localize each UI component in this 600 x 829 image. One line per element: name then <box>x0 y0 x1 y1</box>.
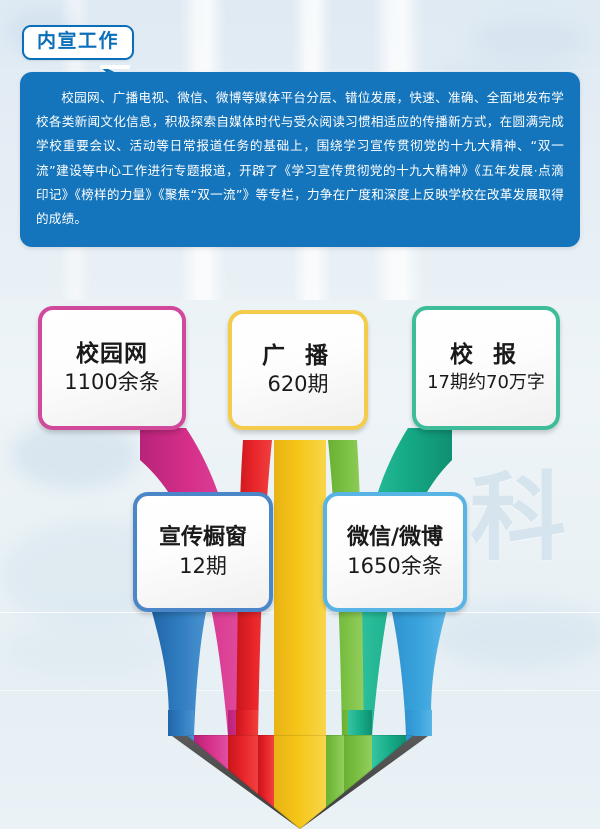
stat-card-value: 620期 <box>267 372 328 397</box>
stat-card-value: 17期约70万字 <box>427 372 545 394</box>
background-foliage <box>470 18 590 62</box>
stat-card-title: 广 播 <box>262 343 334 369</box>
stat-card-title: 宣传橱窗 <box>159 525 247 550</box>
stat-card-school-paper[interactable]: 校 报 17期约70万字 <box>412 306 560 430</box>
arrow-shaft <box>168 710 432 736</box>
badge-box: 内宣工作 <box>22 25 134 60</box>
stat-card-title: 校园网 <box>76 341 148 367</box>
stat-card-wechat-weibo[interactable]: 微信/微博 1650余条 <box>323 492 467 612</box>
infographic-canvas: 科 内宣工作 校园网、广播电视、微信、微博等媒体平台分层、错位发展，快速、准确、… <box>0 0 600 829</box>
stat-card-display-window[interactable]: 宣传橱窗 12期 <box>133 492 273 612</box>
section-title-badge: 内宣工作 <box>22 25 134 60</box>
stat-card-value: 12期 <box>179 554 227 579</box>
stat-card-title: 微信/微博 <box>347 525 443 550</box>
badge-label: 内宣工作 <box>37 31 119 53</box>
stat-card-value: 1650余条 <box>347 554 442 579</box>
ribbon-broadcast-yellow <box>274 440 326 736</box>
background-edge <box>0 70 600 71</box>
arrow-stripes <box>168 730 436 829</box>
stat-card-title: 校 报 <box>450 342 522 368</box>
description-panel: 校园网、广播电视、微信、微博等媒体平台分层、错位发展，快速、准确、全面地发布学校… <box>20 72 580 247</box>
description-text: 校园网、广播电视、微信、微博等媒体平台分层、错位发展，快速、准确、全面地发布学校… <box>36 86 564 231</box>
stat-card-value: 1100余条 <box>64 370 159 395</box>
stat-card-campus-network[interactable]: 校园网 1100余条 <box>38 306 186 430</box>
stat-card-broadcast[interactable]: 广 播 620期 <box>228 310 368 430</box>
